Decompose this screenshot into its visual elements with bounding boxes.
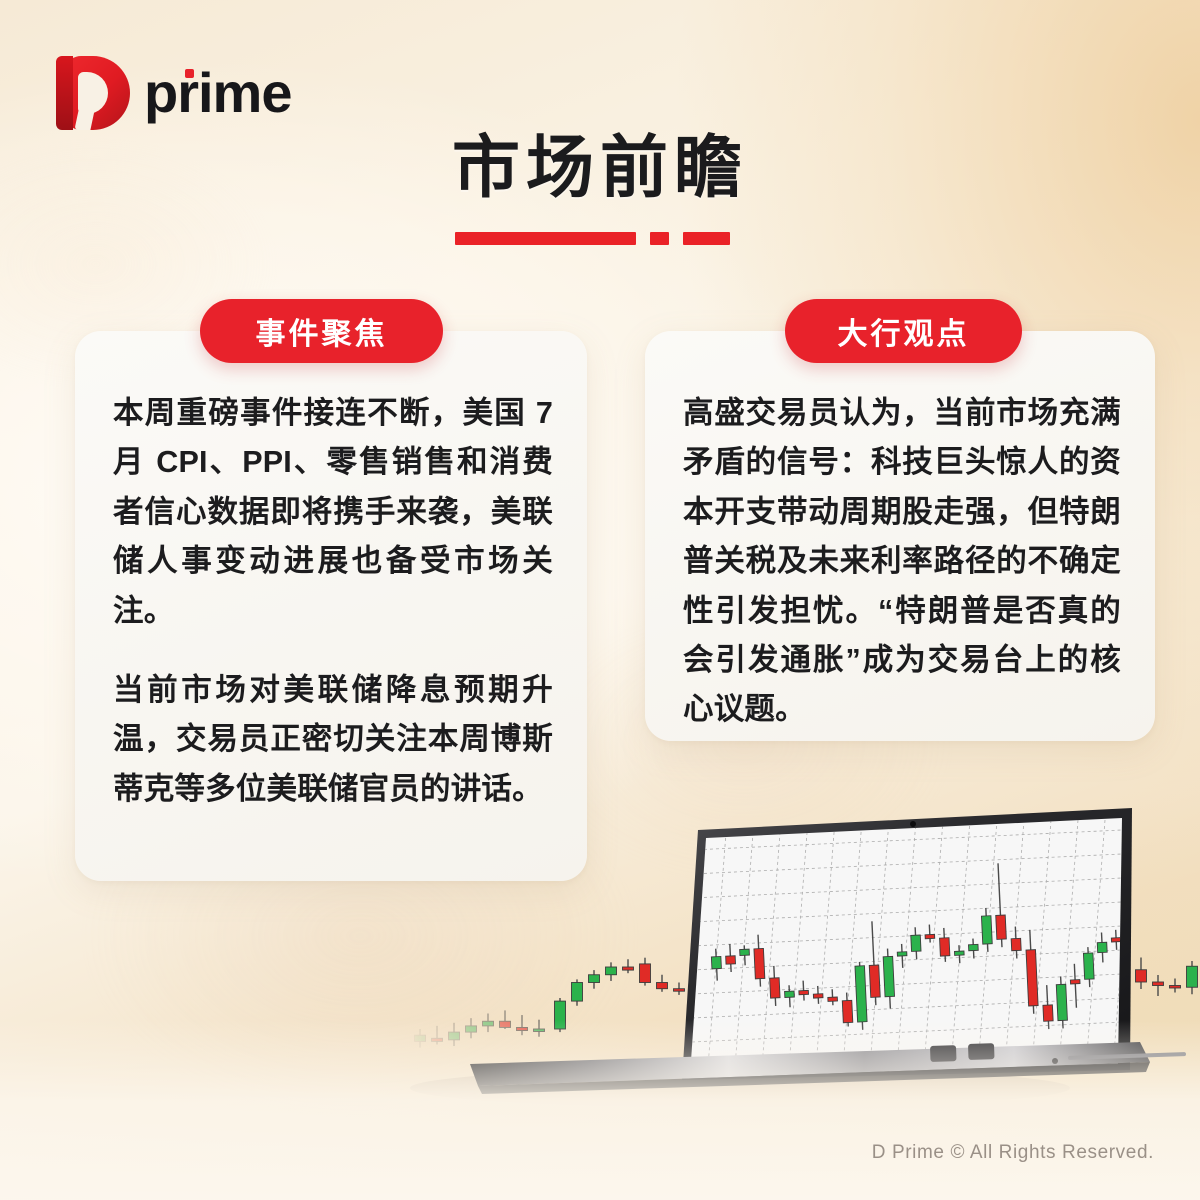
background-candles-left — [415, 1010, 545, 1047]
brand-wordmark-text: prime — [144, 61, 292, 124]
candlestick — [640, 958, 651, 986]
candlestick — [555, 998, 566, 1032]
underline-segment-mid — [683, 232, 730, 245]
underline-segment-long — [455, 232, 636, 245]
webcam-icon — [910, 821, 916, 827]
candlestick — [1187, 961, 1198, 994]
candlestick — [1136, 958, 1147, 990]
page-title-block: 市场前瞻 — [0, 134, 1200, 245]
candlestick — [466, 1018, 477, 1038]
candlestick — [589, 970, 600, 989]
brand-wordmark: prime — [144, 65, 292, 121]
candlestick — [572, 979, 583, 1005]
candlestick — [606, 962, 617, 981]
usb-port-icon — [930, 1045, 957, 1062]
candlestick — [483, 1014, 494, 1033]
badge-bank-views: 大行观点 — [785, 299, 1022, 363]
candlestick — [1153, 975, 1164, 996]
footer-copyright: D Prime © All Rights Reserved. — [872, 1142, 1154, 1164]
candlestick — [674, 983, 685, 995]
candlestick — [500, 1010, 511, 1029]
candlestick — [517, 1015, 528, 1035]
card-event-focus-body: 本周重磅事件接连不断，美国 7 月 CPI、PPI、零售销售和消费者信心数据即将… — [113, 389, 553, 814]
i-dot-accent-icon — [185, 69, 194, 78]
badge-event-focus-label: 事件聚焦 — [256, 309, 388, 353]
card-bank-views-body: 高盛交易员认为，当前市场充满矛盾的信号：科技巨头惊人的资本开支带动周期股走强，但… — [683, 389, 1121, 735]
usb-port-icon — [968, 1043, 995, 1060]
card-bank-views: 大行观点 高盛交易员认为，当前市场充满矛盾的信号：科技巨头惊人的资本开支带动周期… — [645, 331, 1155, 741]
underline-segment-dot — [650, 232, 669, 245]
candlestick — [432, 1026, 443, 1045]
title-underline — [455, 232, 745, 245]
candlestick — [534, 1020, 545, 1037]
d-prime-logo-icon — [56, 56, 130, 130]
poster-canvas: prime 市场前瞻 事件聚焦 本周重磅事件接连不断，美国 7 月 CPI、PP… — [0, 0, 1200, 1200]
candlestick — [1170, 979, 1181, 993]
badge-event-focus: 事件聚焦 — [200, 299, 443, 363]
candlestick-chart-icon — [0, 780, 1200, 1120]
brand-logo[interactable]: prime — [56, 56, 292, 130]
candlestick — [657, 975, 668, 992]
hero-artwork — [0, 780, 1200, 1120]
page-title: 市场前瞻 — [0, 134, 1200, 202]
paragraph: 本周重磅事件接连不断，美国 7 月 CPI、PPI、零售销售和消费者信心数据即将… — [113, 389, 553, 636]
base-port-dot-icon — [1052, 1058, 1058, 1064]
badge-bank-views-label: 大行观点 — [838, 309, 970, 353]
candlestick — [623, 959, 634, 973]
candlestick — [415, 1029, 426, 1048]
paragraph: 高盛交易员认为，当前市场充满矛盾的信号：科技巨头惊人的资本开支带动周期股走强，但… — [683, 389, 1121, 735]
candlestick — [449, 1023, 460, 1046]
